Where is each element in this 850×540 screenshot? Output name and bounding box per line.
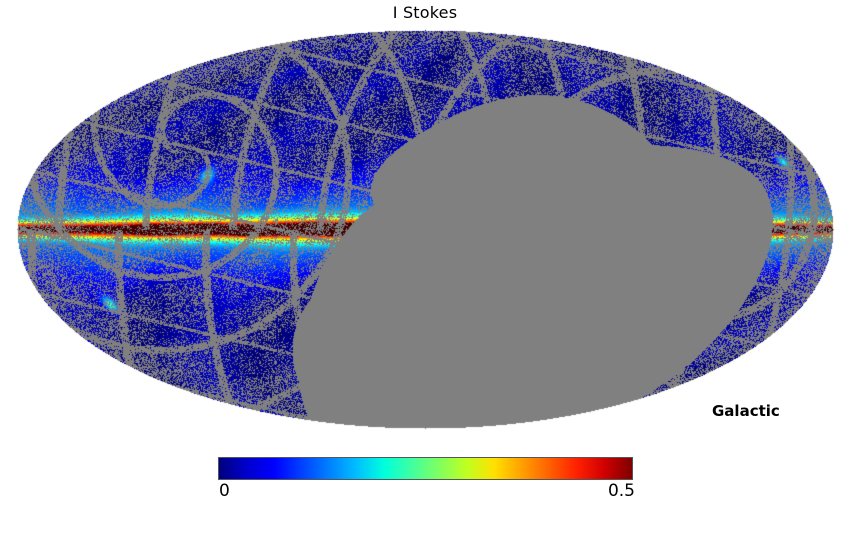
mollweide-sky-map — [0, 26, 850, 430]
colorbar-gradient — [218, 457, 633, 480]
colorbar-min-tick-label: 0 — [219, 481, 230, 501]
page-title: I Stokes — [0, 3, 850, 22]
coordinate-system-label: Galactic — [712, 402, 780, 420]
colorbar: 0 0.5 — [218, 457, 633, 505]
sky-map-figure: I Stokes Galactic 0 0.5 — [0, 0, 850, 540]
colorbar-max-tick-label: 0.5 — [608, 481, 635, 501]
